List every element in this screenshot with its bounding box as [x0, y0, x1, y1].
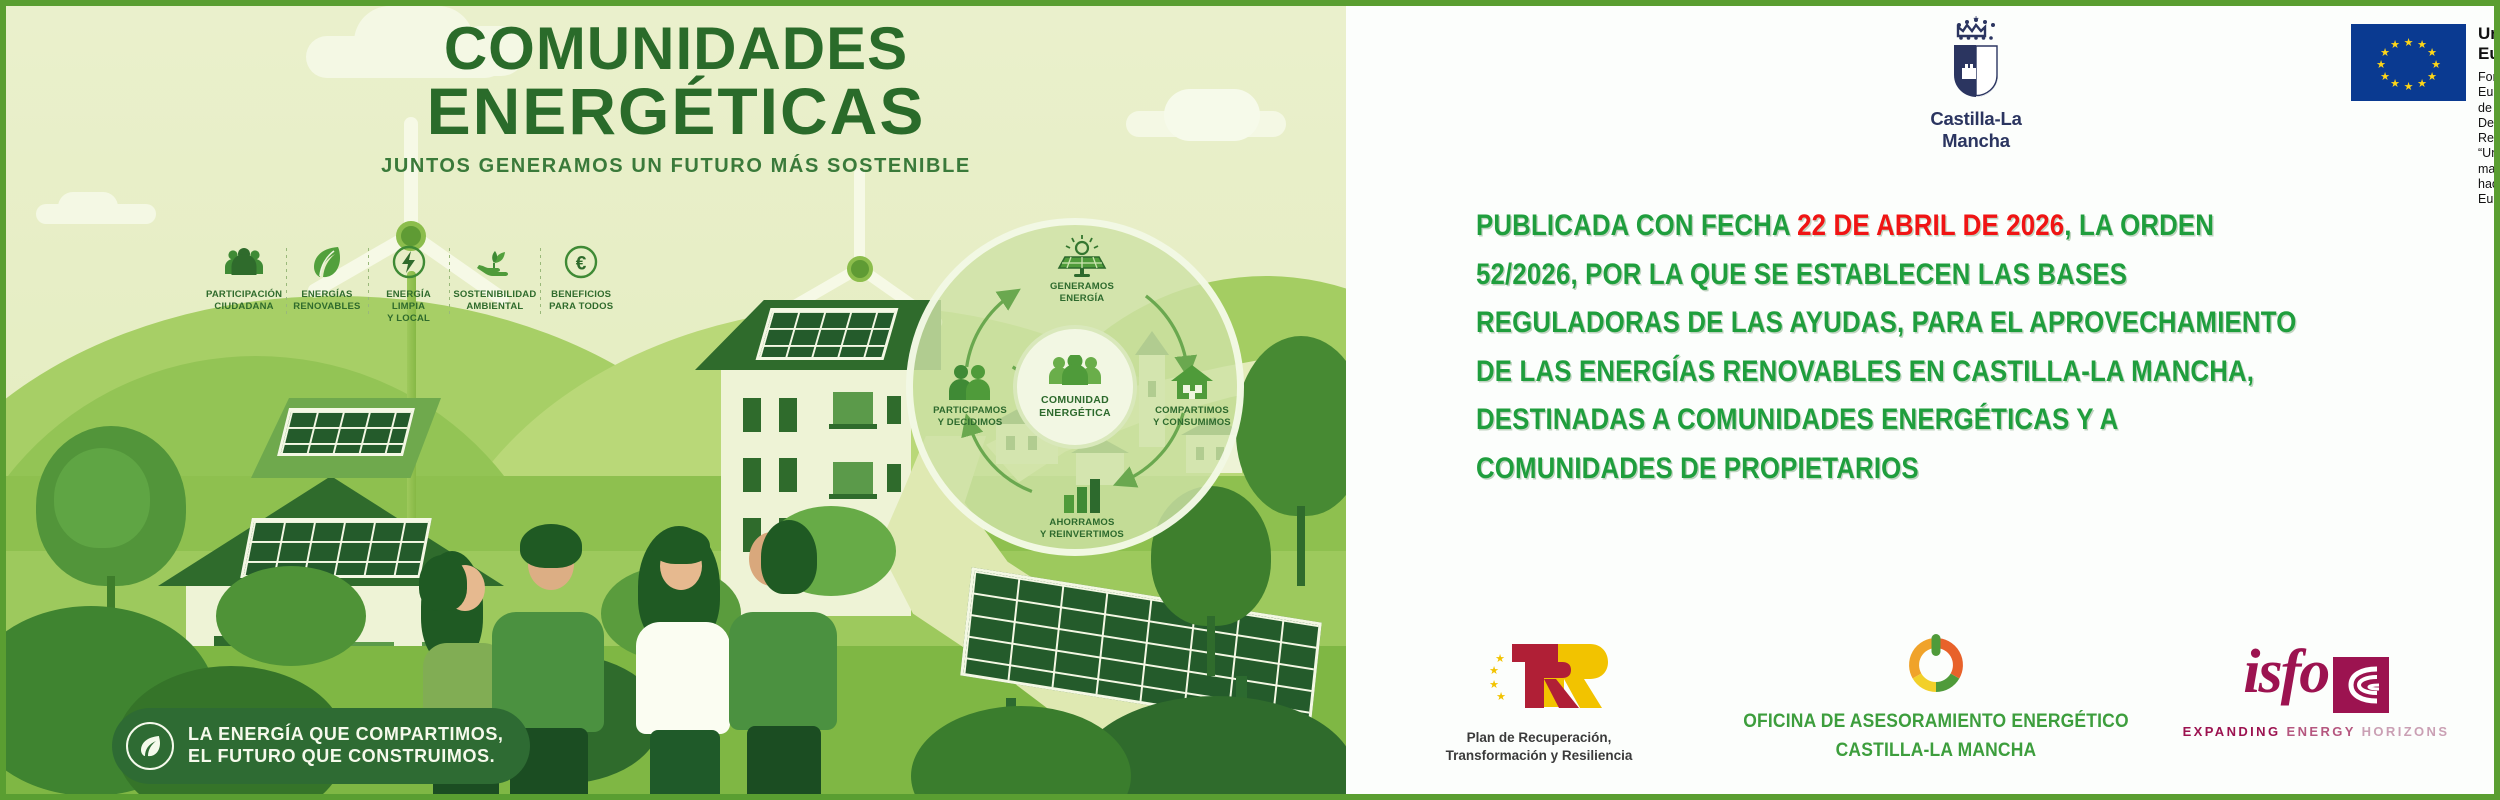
right-info-panel: + Castilla-La Mancha: [1346, 6, 2494, 794]
cycle-center-label: COMUNIDAD ENERGÉTICA: [1039, 394, 1111, 419]
feature-beneficios-para-todos: € BENEFICIOS PARA TODOS: [540, 242, 622, 325]
isfo-wordmark-row: isfo: [2156, 644, 2476, 718]
svg-text:★: ★: [2404, 36, 2414, 49]
bar-chart-icon: [1017, 475, 1147, 513]
power-ring-icon: [1905, 634, 1967, 696]
isfo-logo-icon: [2333, 657, 2389, 718]
leaf-circle-icon: [126, 722, 174, 770]
poster-root: COMUNIDADES ENERGÉTICAS JUNTOS GENERAMOS…: [0, 0, 2500, 800]
svg-text:★: ★: [2380, 70, 2390, 83]
isfo-tag-energy: ENERGY: [2287, 724, 2356, 739]
feature-list: PARTICIPACIÓN CIUDADANA ENERGÍAS RENOVAB…: [202, 242, 622, 325]
solar-panel-sun-icon: [1017, 239, 1147, 277]
illustration-header: COMUNIDADES ENERGÉTICAS JUNTOS GENERAMOS…: [6, 20, 1346, 178]
slogan-badge: LA ENERGÍA QUE COMPARTIMOS, EL FUTURO QU…: [112, 708, 530, 784]
isfo-wordmark: isfo: [2243, 638, 2328, 706]
house-icon: [1127, 363, 1257, 401]
notice-part-2: , LA ORDEN 52/2026, POR LA QUE SE ESTABL…: [1476, 209, 2296, 485]
notice-part-1: PUBLICADA CON FECHA: [1476, 209, 1797, 242]
people-group-icon: [1047, 355, 1103, 390]
cycle-node-ahorramos-reinvertimos: AHORRAMOS Y REINVERTIMOS: [1017, 475, 1147, 541]
leaf-icon: [290, 242, 364, 282]
crown-icon: +: [1948, 14, 2004, 40]
eu-logo-text: Unión Europea Fondo Europeo de Desarroll…: [2478, 24, 2500, 207]
cycle-node-label: GENERAMOS ENERGÍA: [1017, 281, 1147, 305]
oae-caption: OFICINA DE ASESORAMIENTO ENERGÉTICO CAST…: [1743, 708, 2129, 765]
page-title: COMUNIDADES ENERGÉTICAS: [6, 20, 1346, 143]
feature-label: ENERGÍAS RENOVABLES: [290, 289, 364, 313]
svg-text:★: ★: [1496, 690, 1506, 703]
feature-label: ENERGÍA LIMPIA Y LOCAL: [372, 289, 446, 325]
svg-text:★: ★: [1489, 664, 1499, 677]
castilla-la-mancha-wordmark: Castilla-La Mancha: [1896, 108, 2056, 152]
solar-panel-icon: [756, 308, 899, 360]
eu-title: Unión Europea: [2478, 24, 2500, 64]
feature-sostenibilidad-ambiental: SOSTENIBILIDAD AMBIENTAL: [449, 242, 540, 325]
plan-recuperacion-caption: Plan de Recuperación, Transformación y R…: [1374, 729, 1704, 765]
cycle-node-label: AHORRAMOS Y REINVERTIMOS: [1017, 517, 1147, 541]
svg-text:★: ★: [2404, 80, 2414, 93]
lightning-bolt-circle-icon: [372, 242, 446, 282]
cycle-node-compartimos-consumimos: COMPARTIMOS Y CONSUMIMOS: [1127, 363, 1257, 429]
castilla-la-mancha-shield-icon: [1950, 41, 2002, 101]
notice-highlight-date: 22 DE ABRIL DE 2026: [1797, 209, 2064, 242]
plan-recuperacion-tr-icon: ★ ★ ★ ★: [1464, 636, 1614, 720]
european-union-logo: ★ ★ ★ ★ ★ ★ ★ ★ ★ ★ ★ ★ Un: [2351, 24, 2500, 207]
energy-communities-illustration: COMUNIDADES ENERGÉTICAS JUNTOS GENERAMOS…: [6, 6, 1346, 794]
svg-text:€: €: [576, 254, 587, 275]
notice-text: PUBLICADA CON FECHA 22 DE ABRIL DE 2026,…: [1476, 202, 2302, 494]
feature-energias-renovables: ENERGÍAS RENOVABLES: [286, 242, 368, 325]
title-line-2: ENERGÉTICAS: [6, 79, 1346, 144]
castilla-la-mancha-logo: + Castilla-La Mancha: [1896, 14, 2056, 152]
svg-text:★: ★: [2427, 70, 2437, 83]
footer-logo-row: ★ ★ ★ ★ Plan de Recuperación, Transforma…: [1346, 626, 2494, 794]
feature-participacion-ciudadana: PARTICIPACIÓN CIUDADANA: [202, 242, 286, 325]
slogan-text: LA ENERGÍA QUE COMPARTIMOS, EL FUTURO QU…: [188, 724, 504, 768]
cloud-icon: [36, 204, 156, 224]
page-subtitle: JUNTOS GENERAMOS UN FUTURO MÁS SOSTENIBL…: [6, 155, 1346, 178]
bush-shape: [216, 566, 366, 666]
eu-flag-icon: ★ ★ ★ ★ ★ ★ ★ ★ ★ ★ ★ ★: [2351, 24, 2466, 101]
feature-label: SOSTENIBILIDAD AMBIENTAL: [453, 289, 536, 313]
people-group-icon: [206, 242, 282, 282]
svg-text:★: ★: [2417, 77, 2427, 90]
cycle-center: COMUNIDAD ENERGÉTICA: [1013, 325, 1137, 449]
tree-icon: [36, 426, 186, 626]
svg-text:★: ★: [2390, 38, 2400, 51]
solar-panel-icon: [277, 408, 415, 456]
hand-plant-icon: [453, 242, 536, 282]
plan-recuperacion-logo: ★ ★ ★ ★ Plan de Recuperación, Transforma…: [1374, 636, 1704, 765]
title-line-1: COMUNIDADES: [6, 20, 1346, 79]
cycle-node-label: COMPARTIMOS Y CONSUMIMOS: [1127, 405, 1257, 429]
feature-label: BENEFICIOS PARA TODOS: [544, 289, 618, 313]
eu-subtitle: Fondo Europeo de Desarrollo Regional “Un…: [2478, 70, 2500, 207]
svg-text:★: ★: [2417, 38, 2427, 51]
person-figure: [721, 514, 851, 794]
cycle-node-generamos-energia: GENERAMOS ENERGÍA: [1017, 239, 1147, 305]
euro-circle-icon: €: [544, 242, 618, 282]
feature-label: PARTICIPACIÓN CIUDADANA: [206, 289, 282, 313]
feature-energia-limpia-local: ENERGÍA LIMPIA Y LOCAL: [368, 242, 450, 325]
cycle-node-label: PARTICIPAMOS Y DECIDIMOS: [905, 405, 1035, 429]
oficina-asesoramiento-energetico-logo: OFICINA DE ASESORAMIENTO ENERGÉTICO CAST…: [1726, 634, 2146, 765]
energy-community-cycle-diagram: GENERAMOS ENERGÍA COMPARTIMOS Y CONSUMIM…: [906, 218, 1244, 556]
isfo-logo: isfo EXPANDING ENERGY HORIZONS: [2156, 644, 2476, 739]
isfo-tagline: EXPANDING ENERGY HORIZONS: [2156, 724, 2476, 739]
svg-text:★: ★: [2390, 77, 2400, 90]
isfo-tag-horizons: HORIZONS: [2362, 724, 2450, 739]
notice-block: PUBLICADA CON FECHA 22 DE ABRIL DE 2026,…: [1476, 202, 2436, 494]
isfo-tag-expanding: EXPANDING: [2183, 724, 2281, 739]
